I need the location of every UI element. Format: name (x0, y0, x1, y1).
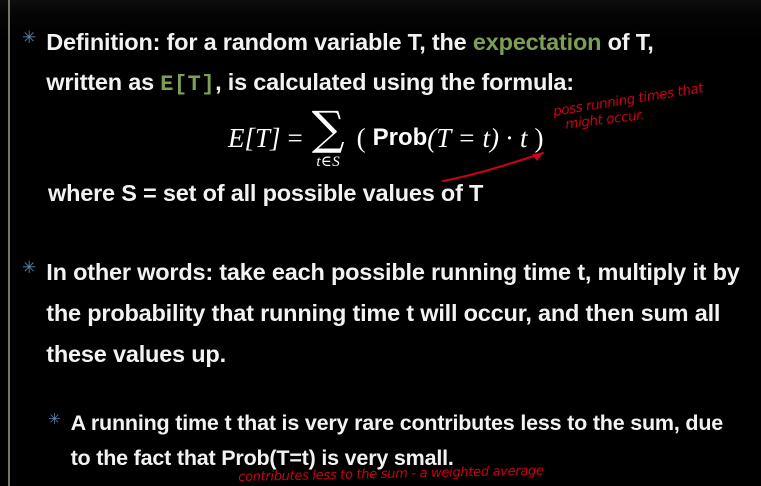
multiplication-dot-icon: · (505, 123, 514, 154)
slide-canvas: ✳ Definition: for a random variable T, t… (0, 0, 761, 486)
asterisk-bullet-icon: ✳ (22, 30, 36, 47)
formula-term: t (520, 123, 528, 154)
definition-text: Definition: for a random variable T, the… (46, 22, 726, 105)
prob-argument: (T = t) (427, 123, 499, 154)
formula-equals: = (288, 123, 303, 154)
et-notation: E[T] (160, 72, 215, 97)
bullet-in-other-words: ✳ In other words: take each possible run… (22, 252, 752, 375)
definition-text-pre: Definition: for a random variable T, the (46, 29, 473, 55)
bullet-definition: ✳ Definition: for a random variable T, t… (22, 22, 742, 105)
summation-group: ∑ t∈S (312, 110, 345, 171)
left-margin-rule (8, 0, 10, 486)
asterisk-bullet-icon: ✳ (22, 260, 36, 277)
expectation-formula: E[T] = ∑ t∈S ( Prob (T = t) · t ) (228, 108, 551, 169)
rare-running-time-text: A running time t that is very rare contr… (71, 406, 731, 476)
expectation-keyword: expectation (473, 29, 601, 55)
prob-function-name: Prob (373, 124, 428, 152)
sigma-icon: ∑ (312, 110, 345, 148)
asterisk-bullet-icon: ✳ (48, 412, 61, 427)
in-other-words-text: In other words: take each possible runni… (46, 252, 746, 375)
formula-lhs: E[T] (228, 123, 281, 154)
bullet-rare-running-time: ✳ A running time t that is very rare con… (48, 406, 748, 476)
formula-open-paren: ( (357, 123, 366, 154)
sigma-subscript: t∈S (316, 152, 340, 171)
where-s-definition: where S = set of all possible values of … (48, 180, 483, 207)
formula-close-paren: ) (535, 123, 544, 154)
definition-text-end: , is calculated using the formula: (215, 69, 574, 95)
